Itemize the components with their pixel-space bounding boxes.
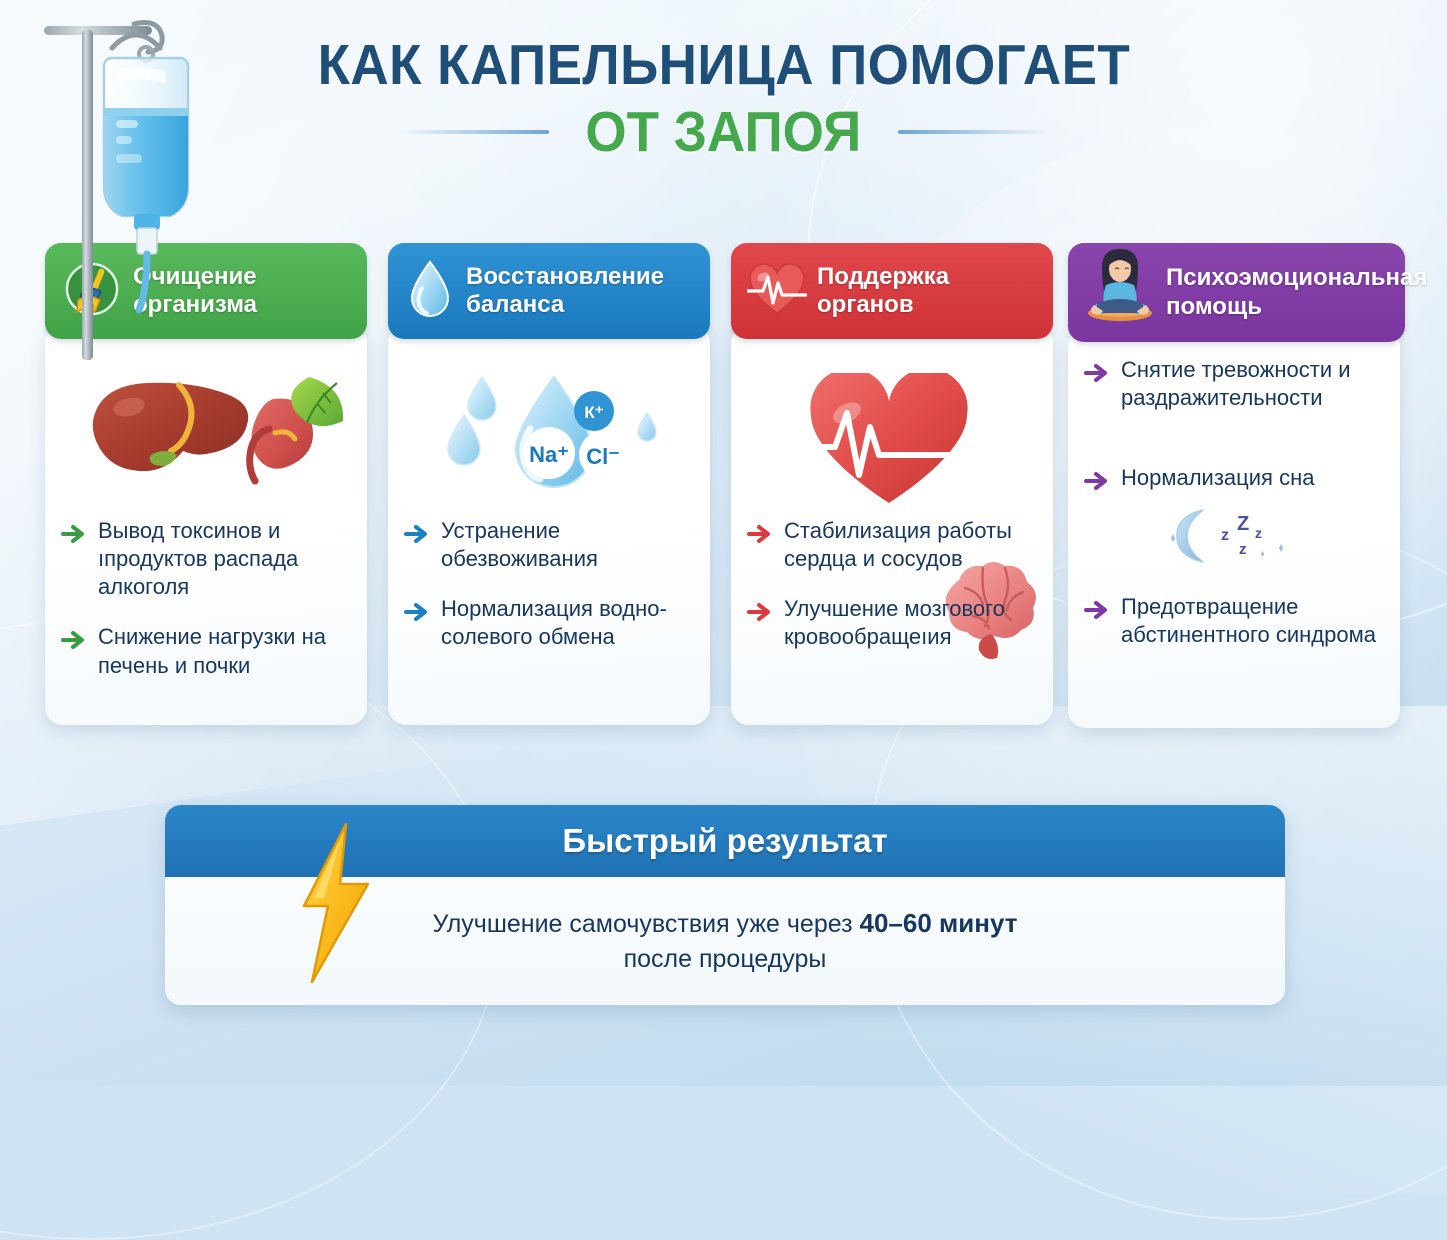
card-header-psychoemotional: Психоэмоциональнаяпомощь — [1068, 243, 1405, 342]
ion-cl-label: Cl⁻ — [586, 444, 620, 469]
list-item-label: Вывод токсинов и ıпродуктов распада алко… — [98, 517, 351, 601]
card-body-balance: К⁺ Na⁺ Cl⁻ Устранение обезвоживания — [388, 325, 710, 725]
list-item: Снижение нагрузки на печень и почки — [61, 623, 351, 679]
list-item-label: Снятие тревожности и раздражительности — [1121, 356, 1384, 412]
water-drops-electrolytes-illustration: К⁺ Na⁺ Cl⁻ — [404, 377, 694, 517]
card-title-psychoemotional: Психоэмоциональнаяпомощь — [1166, 264, 1427, 321]
banner-duration-value: 40–60 минут — [860, 908, 1018, 938]
heart-with-ecg-illustration — [747, 377, 1037, 517]
bullet-list-balance: Устранение обезвоживания Нормализация во… — [404, 517, 694, 652]
list-item: Снятие тревожности и раздражительности — [1084, 356, 1384, 412]
list-item: Стабилизация работы сердца и сосудов — [747, 517, 1037, 573]
card-body-psychoemotional: Снятие тревожности и раздражительности Н… — [1068, 328, 1400, 728]
list-item: Предотвращение абстинентного синдрома — [1084, 593, 1384, 649]
water-drop-icon — [404, 258, 456, 325]
ion-na-label: Na⁺ — [529, 442, 569, 467]
bullet-list-organs: Стабилизация работы сердца и сосудов Улу… — [747, 517, 1037, 652]
card-title-balance: Восстановлениебаланса — [466, 263, 664, 320]
card-body-organs: Стабилизация работы сердца и сосудов Улу… — [731, 325, 1053, 725]
bullet-list-cleansing: Вывод токсинов и ıпродуктов распада алко… — [61, 517, 351, 680]
list-item-label: Снижение нагрузки на печень и почки — [98, 623, 351, 679]
arrow-right-icon — [404, 521, 430, 547]
card-body-cleansing: Вывод токсинов и ıпродуктов распада алко… — [45, 325, 367, 725]
arrow-right-icon — [747, 599, 773, 625]
list-item-label: Нормализация водно-солевого обмена — [441, 595, 694, 651]
list-item: Устранение обезвоживания — [404, 517, 694, 573]
svg-text:z: z — [1255, 525, 1262, 541]
title-line-1: КАК КАПЕЛЬНИЦА ПОМОГАЕТ — [317, 36, 1130, 96]
svg-text:z: z — [1239, 541, 1247, 558]
card-title-organs: Поддержкаорганов — [817, 263, 949, 320]
ion-k-label: К⁺ — [584, 403, 603, 422]
list-item-label: Нормализация сна — [1121, 464, 1314, 492]
card-organs[interactable]: Поддержкаорганов Стаби — [731, 243, 1053, 725]
svg-text:Z: Z — [1237, 513, 1249, 535]
title-rule-left — [399, 130, 549, 134]
list-item-label: Стабилизация работы сердца и сосудов — [784, 517, 1037, 573]
list-item: Нормализация сна — [1084, 464, 1384, 494]
title-line-2: ОТ ЗАПОЯ — [586, 104, 862, 161]
title-rule-right — [898, 130, 1048, 134]
card-header-balance: Восстановлениебаланса — [388, 243, 710, 339]
banner-heading: Быстрый результат — [562, 822, 887, 860]
lightning-bolt-icon — [290, 818, 380, 988]
arrow-right-icon — [61, 627, 87, 653]
svg-text:z: z — [1221, 527, 1229, 544]
moon-zzz-illustration: Z z z z — [1084, 500, 1384, 575]
card-balance[interactable]: Восстановлениебаланса — [388, 243, 710, 725]
list-item: Вывод токсинов и ıпродуктов распада алко… — [61, 517, 351, 601]
arrow-right-icon — [1084, 468, 1110, 494]
arrow-right-icon — [1084, 360, 1110, 386]
list-item: Нормализация водно-солевого обмена — [404, 595, 694, 651]
arrow-right-icon — [404, 599, 430, 625]
meditating-woman-icon — [1084, 257, 1156, 328]
heart-pulse-icon — [747, 261, 807, 322]
card-header-organs: Поддержкаорганов — [731, 243, 1053, 339]
list-item-label: Улучшение мозгового кровообращеıия — [784, 595, 1037, 651]
bullet-list-psychoemotional: Снятие тревожности и раздражительности Н… — [1084, 356, 1384, 650]
iv-drip-stand-icon — [34, 8, 254, 368]
list-item-label: Предотвращение абстинентного синдрома — [1121, 593, 1384, 649]
list-item-label: Устранение обезвоживания — [441, 517, 694, 573]
card-psychoemotional[interactable]: Психоэмоциональнаяпомощь Снятие тревожно… — [1068, 243, 1405, 728]
arrow-right-icon — [747, 521, 773, 547]
arrow-right-icon — [1084, 597, 1110, 623]
arrow-right-icon — [61, 521, 87, 547]
list-item: Улучшение мозгового кровообращеıия — [747, 595, 1037, 651]
banner-line-1-prefix: Улучшение самочувствия уже через — [433, 910, 860, 938]
liver-kidney-leaf-illustration — [61, 377, 351, 517]
